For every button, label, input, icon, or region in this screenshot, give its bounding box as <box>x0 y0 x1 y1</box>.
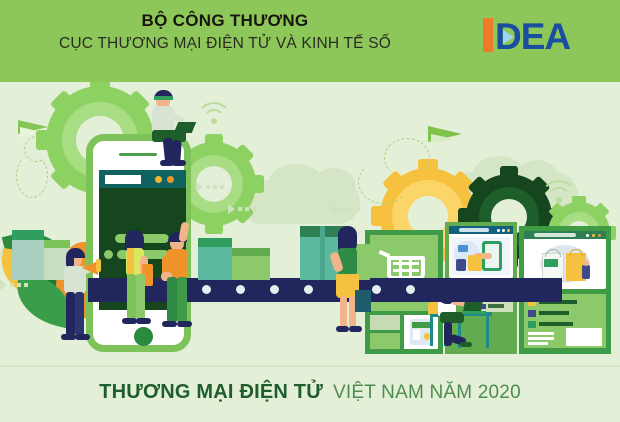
illustration-scene <box>0 82 620 367</box>
browser-window[interactable] <box>449 226 513 278</box>
play-triangle-icon <box>503 30 514 44</box>
header-band: BỘ CÔNG THƯƠNG CỤC THƯƠNG MẠI ĐIỆN TỬ VÀ… <box>0 0 620 82</box>
idea-logo[interactable]: DEA <box>483 16 575 60</box>
content-bullet <box>104 250 113 259</box>
package-box <box>12 230 44 280</box>
logo-letter-i <box>483 22 493 52</box>
header-text-block: BỘ CÔNG THƯƠNG CỤC THƯƠNG MẠI ĐIỆN TỬ VÀ… <box>0 10 450 56</box>
person-woman-tablet <box>118 230 156 340</box>
package-box <box>232 248 270 280</box>
person-laptop-on-phone <box>142 90 198 166</box>
title-light-part: VIỆT NAM NĂM 2020 <box>333 382 521 403</box>
belt-roller <box>406 285 415 294</box>
megaphone-icon <box>82 258 104 272</box>
logo-i-dot <box>483 18 493 26</box>
image-placeholder <box>566 328 602 346</box>
package-box <box>198 238 232 280</box>
belt-roller <box>372 285 381 294</box>
content-list-panel <box>524 294 606 348</box>
status-dot <box>167 176 174 183</box>
panel-placeholder-block <box>370 315 400 330</box>
cloud-shape <box>312 168 356 204</box>
browser-title-bar <box>524 231 606 239</box>
poster-title: THƯƠNG MẠI ĐIỆN TỬVIỆT NAM NĂM 2020 <box>0 381 620 404</box>
package-box <box>355 290 371 312</box>
person-woman-yellow-skirt <box>330 226 370 342</box>
ministry-name: BỘ CÔNG THƯƠNG <box>0 10 450 32</box>
person-man-raising-hand <box>158 222 202 340</box>
panel-placeholder-block <box>370 333 400 349</box>
poster-root: BỘ CÔNG THƯƠNG CỤC THƯƠNG MẠI ĐIỆN TỬ VÀ… <box>0 0 620 422</box>
browser-title-bar <box>449 226 513 234</box>
person-megaphone <box>56 246 102 350</box>
wifi-signal-icon <box>540 180 580 204</box>
department-name: CỤC THƯƠNG MẠI ĐIỆN TỬ VÀ KINH TẾ SỐ <box>0 32 450 56</box>
belt-roller <box>270 285 279 294</box>
plane-trail-dashes <box>358 138 436 204</box>
belt-roller <box>304 285 313 294</box>
status-dot <box>155 176 162 183</box>
belt-roller <box>236 285 245 294</box>
phone-app-topbar <box>99 170 186 188</box>
wifi-signal-icon <box>196 102 234 126</box>
title-bold-part: THƯƠNG MẠI ĐIỆN TỬ <box>99 381 323 403</box>
belt-roller <box>202 285 211 294</box>
phone-search-field[interactable] <box>105 175 141 184</box>
